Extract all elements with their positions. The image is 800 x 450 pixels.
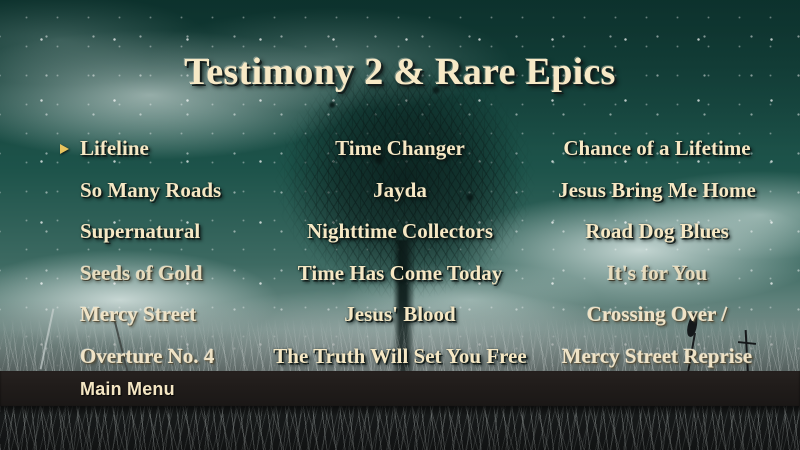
chapter-label: It's for You — [607, 261, 707, 285]
dvd-menu-screen: Testimony 2 & Rare Epics Lifeline So Man… — [0, 0, 800, 450]
chapter-item-seeds-of-gold[interactable]: Seeds of Gold — [80, 253, 203, 295]
chapter-column-middle: Time Changer Jayda Nighttime Collectors … — [272, 128, 528, 366]
chapter-label: Lifeline — [80, 136, 149, 160]
chapter-label: The Truth Will Set You Free — [273, 344, 526, 368]
chapter-label: Overture No. 4 — [80, 344, 214, 368]
main-menu-button[interactable]: Main Menu — [80, 371, 175, 408]
chapter-column-left: Lifeline So Many Roads Supernatural Seed… — [56, 128, 272, 366]
chapter-item-its-for-you[interactable]: It's for You — [607, 253, 707, 295]
chapter-item-supernatural[interactable]: Supernatural — [80, 211, 200, 253]
chapter-label: Supernatural — [80, 219, 200, 243]
chapter-label: Road Dog Blues — [585, 219, 729, 243]
chapter-label: Jesus' Blood — [344, 302, 455, 326]
page-title: Testimony 2 & Rare Epics — [0, 50, 800, 94]
chapter-item-road-dog-blues[interactable]: Road Dog Blues — [585, 211, 729, 253]
chapter-label: Seeds of Gold — [80, 261, 203, 285]
chapter-label: Mercy Street — [80, 302, 196, 326]
chapter-label: Chance of a Lifetime — [563, 136, 750, 160]
chapter-item-so-many-roads[interactable]: So Many Roads — [80, 170, 221, 212]
chapter-menu: Lifeline So Many Roads Supernatural Seed… — [0, 128, 800, 366]
chapter-item-time-has-come-today[interactable]: Time Has Come Today — [298, 253, 502, 295]
chapter-label: Jayda — [373, 178, 427, 202]
chapter-label: Nighttime Collectors — [307, 219, 493, 243]
chapter-label: Time Changer — [335, 136, 465, 160]
chapter-item-lifeline[interactable]: Lifeline — [80, 128, 149, 170]
chapter-item-nighttime-collectors[interactable]: Nighttime Collectors — [307, 211, 493, 253]
selection-arrow-icon — [60, 144, 69, 154]
bottom-bar: Main Menu — [0, 371, 800, 408]
chapter-item-crossing-over[interactable]: Crossing Over / — [587, 294, 727, 336]
chapter-item-jayda[interactable]: Jayda — [373, 170, 427, 212]
chapter-item-time-changer[interactable]: Time Changer — [335, 128, 465, 170]
chapter-label: Mercy Street Reprise — [562, 344, 752, 368]
chapter-item-chance-of-a-lifetime[interactable]: Chance of a Lifetime — [563, 128, 750, 170]
chapter-label: Time Has Come Today — [298, 261, 502, 285]
grass-lower-shading — [0, 406, 800, 450]
chapter-column-right: Chance of a Lifetime Jesus Bring Me Home… — [528, 128, 786, 366]
chapter-label: Jesus Bring Me Home — [558, 178, 756, 202]
chapter-label: Crossing Over / — [587, 302, 727, 326]
chapter-item-jesus-blood[interactable]: Jesus' Blood — [344, 294, 455, 336]
chapter-item-mercy-street[interactable]: Mercy Street — [80, 294, 196, 336]
chapter-item-jesus-bring-me-home[interactable]: Jesus Bring Me Home — [558, 170, 756, 212]
chapter-label: So Many Roads — [80, 178, 221, 202]
